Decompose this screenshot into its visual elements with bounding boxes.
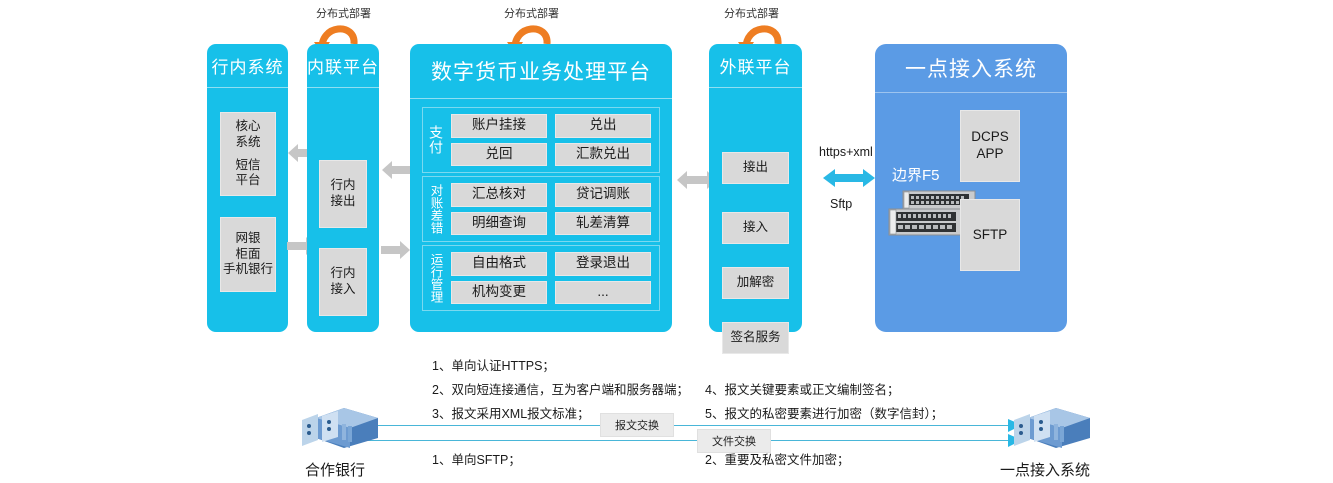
tile-line: 接出 xyxy=(330,194,355,210)
tile-sftp: SFTP xyxy=(960,199,1020,271)
group-label-payment: 支付 xyxy=(423,108,449,172)
tile-line: 柜面 xyxy=(235,247,260,263)
group-label-operations: 运行管理 xyxy=(423,246,449,310)
tile-exchange-back: 兑回 xyxy=(451,143,547,167)
msg-note-2: 2、双向短连接通信，互为客户端和服务器端； xyxy=(432,379,689,398)
tile-intranet-in: 行内 接入 xyxy=(319,248,367,316)
tile-account-link: 账户挂接 xyxy=(451,114,547,138)
group-payment: 支付 账户挂接 兑出 兑回 汇款兑出 xyxy=(422,107,660,173)
tile-encrypt-decrypt: 加解密 xyxy=(722,267,789,299)
panel-title-external-platform: 外联平台 xyxy=(709,44,802,88)
tile-org-change: 机构变更 xyxy=(451,281,547,305)
file-note-1: 1、单向SFTP； xyxy=(432,449,521,468)
arrow-right-intranet-in xyxy=(381,240,411,260)
panel-single-access-system: 一点接入系统 边界F5 xyxy=(875,44,1067,332)
msg-note-1: 1、单向认证HTTPS； xyxy=(432,355,555,374)
tile-line: 核心 xyxy=(235,119,260,135)
tile-line: 行内 xyxy=(330,178,355,194)
panel-title-intranet-platform: 内联平台 xyxy=(307,44,379,88)
tile-credit-adjust: 贷记调账 xyxy=(555,183,651,207)
caption-partner-bank: 合作银行 xyxy=(305,459,365,480)
msg-note-3: 3、报文采用XML报文标准； xyxy=(432,403,590,422)
tile-external-in: 接入 xyxy=(722,212,789,244)
architecture-diagram: 分布式部署 分布式部署 分布式部署 行内系统 核心 系统 短信 平台 网银 柜面… xyxy=(0,0,1333,483)
tile-detail-query: 明细查询 xyxy=(451,212,547,236)
group-tiles-operations: 自由格式 登录退出 机构变更 ... xyxy=(449,246,659,310)
tile-netting-settlement: 轧差清算 xyxy=(555,212,651,236)
tile-more: ... xyxy=(555,281,651,305)
group-reconciliation: 对账差错 汇总核对 贷记调账 明细查询 轧差清算 xyxy=(422,176,660,242)
tile-external-out: 接出 xyxy=(722,152,789,184)
msg-note-4: 4、报文关键要素或正文编制签名； xyxy=(705,379,899,398)
tile-login-logout: 登录退出 xyxy=(555,252,651,276)
tile-dcps-app: DCPS APP xyxy=(960,110,1020,182)
tile-summary-check: 汇总核对 xyxy=(451,183,547,207)
tile-line: APP xyxy=(976,146,1003,163)
server-icon-single-access-system xyxy=(1012,404,1092,452)
panel-external-platform: 外联平台 接出 接入 加解密 签名服务 xyxy=(709,44,802,332)
tile-ebank-counter-mobile: 网银 柜面 手机银行 xyxy=(220,217,276,292)
tile-line: 系统 xyxy=(235,135,260,151)
tile-line: 网银 xyxy=(235,231,260,247)
link-label-https-xml: https+xml xyxy=(819,145,873,159)
panel-dcep-platform: 数字货币业务处理平台 支付 账户挂接 兑出 兑回 汇款兑出 对账差错 汇总核对 … xyxy=(410,44,672,332)
panel-bank-internal-system: 行内系统 核心 系统 短信 平台 网银 柜面 手机银行 xyxy=(207,44,288,332)
tile-core-system: 核心 系统 短信 平台 xyxy=(220,112,276,196)
group-label-reconciliation: 对账差错 xyxy=(423,177,449,241)
tile-intranet-out: 行内 接出 xyxy=(319,160,367,228)
chip-message-exchange: 报文交换 xyxy=(600,413,674,437)
label-boundary-f5: 边界F5 xyxy=(892,164,940,185)
tile-free-format: 自由格式 xyxy=(451,252,547,276)
tile-line: 行内 xyxy=(330,266,355,282)
caption-single-access-system: 一点接入系统 xyxy=(1000,459,1090,480)
tile-line: 短信 xyxy=(235,158,260,174)
panel-title-single-access-system: 一点接入系统 xyxy=(875,44,1067,93)
server-icon-partner-bank xyxy=(300,404,380,452)
arrow-bidirectional-external-access xyxy=(822,167,876,189)
panel-title-bank-internal: 行内系统 xyxy=(207,44,288,88)
tile-line: 接入 xyxy=(330,282,355,298)
tile-line: 平台 xyxy=(235,173,260,189)
msg-note-5: 5、报文的私密要素进行加密（数字信封）； xyxy=(705,403,943,422)
group-operations: 运行管理 自由格式 登录退出 机构变更 ... xyxy=(422,245,660,311)
panel-intranet-platform: 内联平台 行内 接出 行内 接入 xyxy=(307,44,379,332)
tile-exchange-out: 兑出 xyxy=(555,114,651,138)
link-label-sftp: Sftp xyxy=(830,197,852,211)
group-tiles-reconciliation: 汇总核对 贷记调账 明细查询 轧差清算 xyxy=(449,177,659,241)
tile-remit-exchange-out: 汇款兑出 xyxy=(555,143,651,167)
tile-signature-service: 签名服务 xyxy=(722,322,789,354)
connector-line-message xyxy=(358,425,1012,426)
chip-file-exchange: 文件交换 xyxy=(697,429,771,453)
group-tiles-payment: 账户挂接 兑出 兑回 汇款兑出 xyxy=(449,108,659,172)
connector-line-file xyxy=(358,440,1012,441)
tile-line: 手机银行 xyxy=(223,262,273,278)
panel-title-dcep-platform: 数字货币业务处理平台 xyxy=(410,44,672,99)
tile-line: DCPS xyxy=(971,129,1009,146)
arrow-left-intranet-out xyxy=(381,160,411,180)
